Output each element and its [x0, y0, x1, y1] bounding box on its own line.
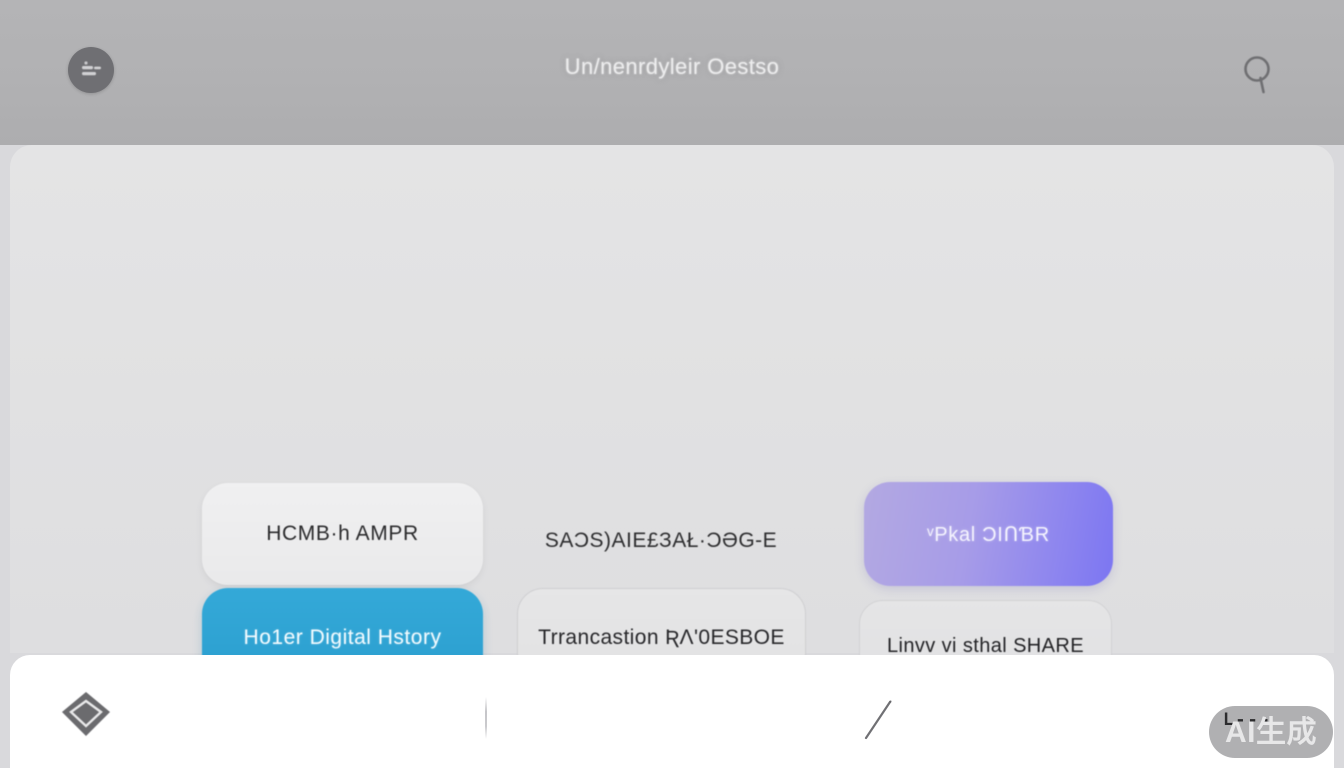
page-title: Un/nenrdyleir Oestso: [0, 54, 1344, 80]
diagonal-slash-mark: [862, 698, 896, 742]
card-upgrade-plan[interactable]: ᵛPkal ƆIՈƁR: [864, 482, 1113, 586]
bottom-navigation-bar: [10, 655, 1334, 768]
card-home-amount[interactable]: HCMB·h AMPR: [202, 483, 483, 585]
label-balance-text: SAƆS)AIE£ЗAŁ·ƆƏG-E: [516, 513, 806, 569]
search-icon[interactable]: [1238, 50, 1278, 96]
app-header: Un/nenrdyleir Oestso: [0, 0, 1344, 145]
main-content-panel: HCMB·h AMPR SAƆS)AIE£ЗAŁ·ƆƏG-E ᵛPkal ƆIՈ…: [10, 145, 1334, 653]
diamond-icon[interactable]: [56, 686, 116, 742]
watermark-label: AI生成: [1225, 716, 1317, 749]
ai-generated-watermark: L--- AI生成: [1209, 706, 1333, 758]
vertical-line-mark: [485, 697, 487, 739]
app-screen: Un/nenrdyleir Oestso HCMB·h AMPR SAƆS)AI…: [0, 0, 1344, 768]
